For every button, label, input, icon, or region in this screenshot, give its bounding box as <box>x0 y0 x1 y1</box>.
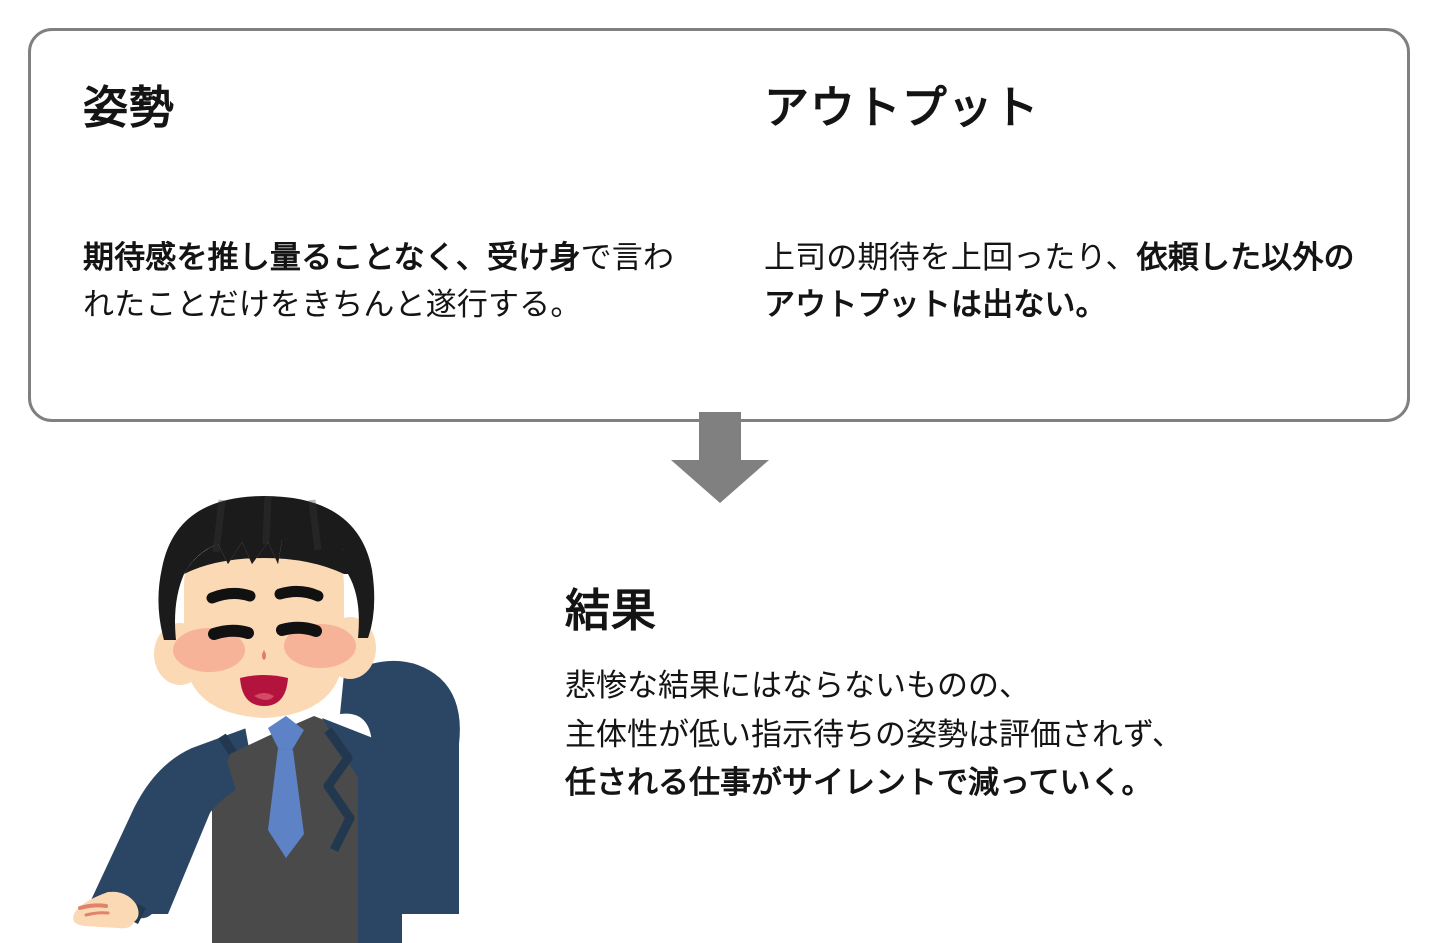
column-attitude-heading: 姿勢 <box>83 83 175 133</box>
result-line-2: 主体性が低い指示待ちの姿勢は評価されず、 <box>565 711 1365 759</box>
column-attitude-body-bold: 期待感を推し量ることなく、受け身 <box>83 240 581 275</box>
column-output-body-regular: 上司の期待を上回ったり、 <box>764 240 1137 275</box>
column-attitude-body: 期待感を推し量ることなく、受け身で言われたことだけをきちんと遂行する。 <box>83 234 698 328</box>
businessman-scratching-head-icon <box>72 478 502 943</box>
slide-canvas: 姿勢 期待感を推し量ることなく、受け身で言われたことだけをきちんと遂行する。 ア… <box>0 0 1440 943</box>
result-body: 悲惨な結果にはならないものの、 主体性が低い指示待ちの姿勢は評価されず、 任され… <box>565 636 1365 807</box>
column-output-body: 上司の期待を上回ったり、依頼した以外のアウトプットは出ない。 <box>764 234 1364 328</box>
panel-columns: 姿勢 期待感を推し量ることなく、受け身で言われたことだけをきちんと遂行する。 ア… <box>31 31 1407 419</box>
result-line-3: 任される仕事がサイレントで減っていく。 <box>565 759 1365 807</box>
result-block: 結果 悲惨な結果にはならないものの、 主体性が低い指示待ちの姿勢は評価されず、 … <box>565 586 1365 807</box>
result-line-1: 悲惨な結果にはならないものの、 <box>565 662 1365 710</box>
result-heading: 結果 <box>565 586 1365 636</box>
column-output-heading: アウトプット <box>764 83 1039 133</box>
summary-panel: 姿勢 期待感を推し量ることなく、受け身で言われたことだけをきちんと遂行する。 ア… <box>28 28 1410 422</box>
down-arrow-icon <box>669 412 771 504</box>
